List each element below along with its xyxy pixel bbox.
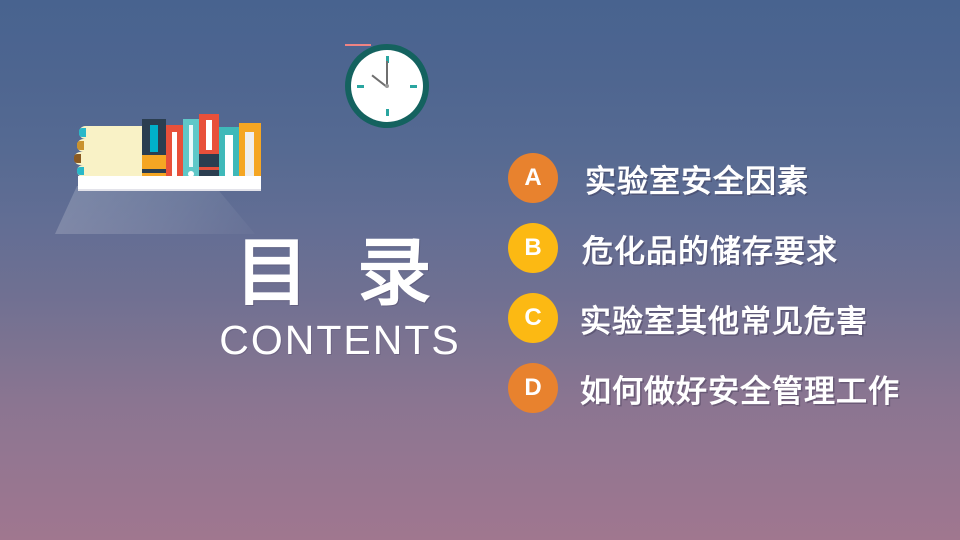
shelf-board (78, 176, 261, 189)
bookshelf-illustration (55, 96, 295, 246)
presentation-slide: 目 录 CONTENTS A 实验室安全因素 B 危化品的储存要求 C 实验室其… (0, 0, 960, 540)
contents-label-b: 危化品的储存要求 (582, 226, 838, 271)
clock-tick-3 (410, 85, 417, 88)
contents-badge-b[interactable]: B (508, 223, 558, 273)
contents-item-c[interactable]: C 实验室其他常见危害 (508, 292, 948, 344)
contents-badge-c[interactable]: C (508, 293, 558, 343)
shelf-shadow (55, 186, 280, 234)
clock-icon (345, 44, 429, 128)
standing-book-4-band-upper (199, 154, 219, 167)
clock-tick-6 (386, 109, 389, 116)
clock-center-pin (385, 84, 389, 88)
contents-item-b[interactable]: B 危化品的储存要求 (508, 222, 948, 274)
stacked-book-4-spine (79, 128, 86, 137)
contents-badge-d[interactable]: D (508, 363, 558, 413)
contents-label-d: 如何做好安全管理工作 (580, 366, 900, 411)
standing-book-1-stripe (150, 125, 158, 152)
standing-book-4-stripe (206, 120, 212, 150)
stacked-book-1-spine (77, 167, 84, 175)
clock-tick-9 (357, 85, 364, 88)
contents-item-a[interactable]: A 实验室安全因素 (508, 152, 948, 204)
standing-book-5-stripe (225, 135, 233, 181)
contents-badge-a[interactable]: A (508, 153, 558, 203)
page-title: 目 录 CONTENTS (185, 236, 495, 361)
clock-second-hand (345, 44, 371, 46)
standing-book-1-band-upper (142, 155, 166, 169)
stacked-book-3-spine (77, 141, 84, 150)
standing-book-2-stripe (172, 132, 177, 182)
title-chinese: 目 录 (185, 236, 495, 310)
standing-book-3-stripe (189, 125, 193, 167)
contents-item-d[interactable]: D 如何做好安全管理工作 (508, 362, 948, 414)
title-english: CONTENTS (185, 320, 495, 361)
contents-label-c: 实验室其他常见危害 (580, 296, 868, 341)
contents-list: A 实验室安全因素 B 危化品的储存要求 C 实验室其他常见危害 D 如何做好安… (508, 152, 948, 432)
stacked-book-2-spine (74, 154, 81, 163)
standing-book-6-stripe (245, 132, 254, 179)
contents-label-a: 实验室安全因素 (585, 156, 809, 201)
shelf-board-edge (78, 189, 261, 191)
